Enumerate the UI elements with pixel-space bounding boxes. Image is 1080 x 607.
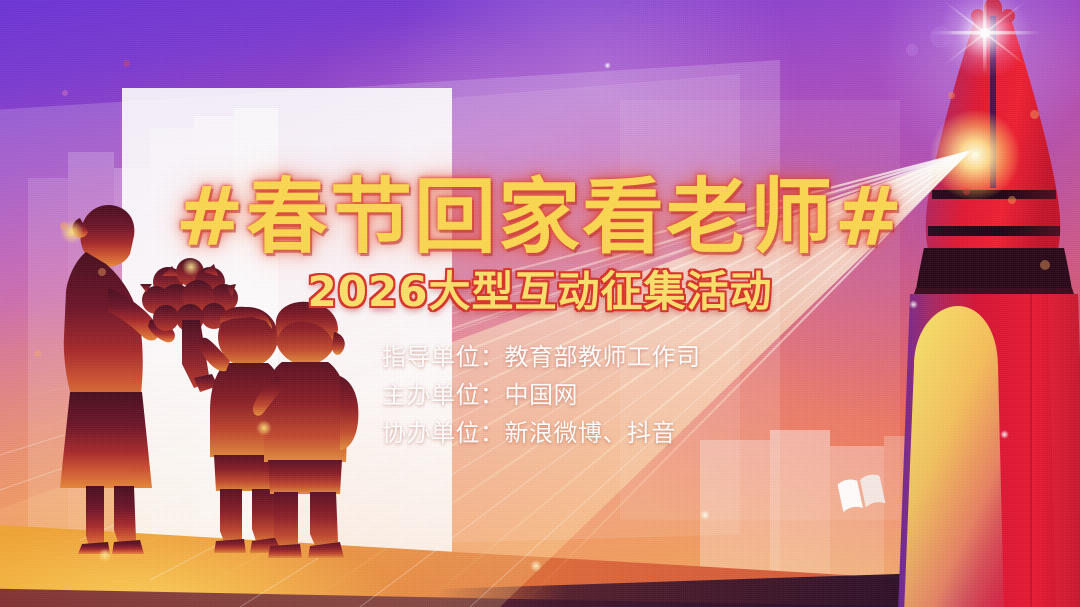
open-book-icon xyxy=(836,472,888,516)
poster-canvas: #春节回家看老师# 2026大型互动征集活动 指导单位：教育部教师工作司 主办单… xyxy=(0,0,1080,607)
page-title: #春节回家看老师# xyxy=(0,150,1080,269)
credit-line-coorganizer: 协办单位：新浪微博、抖音 xyxy=(382,414,701,452)
child-silhouette-right-icon xyxy=(248,298,368,560)
star-flare-icon xyxy=(930,0,1040,88)
credit-line-host: 主办单位：中国网 xyxy=(382,376,701,414)
credit-line-guidance: 指导单位：教育部教师工作司 xyxy=(382,338,701,376)
credits-block: 指导单位：教育部教师工作司 主办单位：中国网 协办单位：新浪微博、抖音 xyxy=(382,338,701,452)
page-subtitle: 2026大型互动征集活动 xyxy=(0,258,1080,319)
